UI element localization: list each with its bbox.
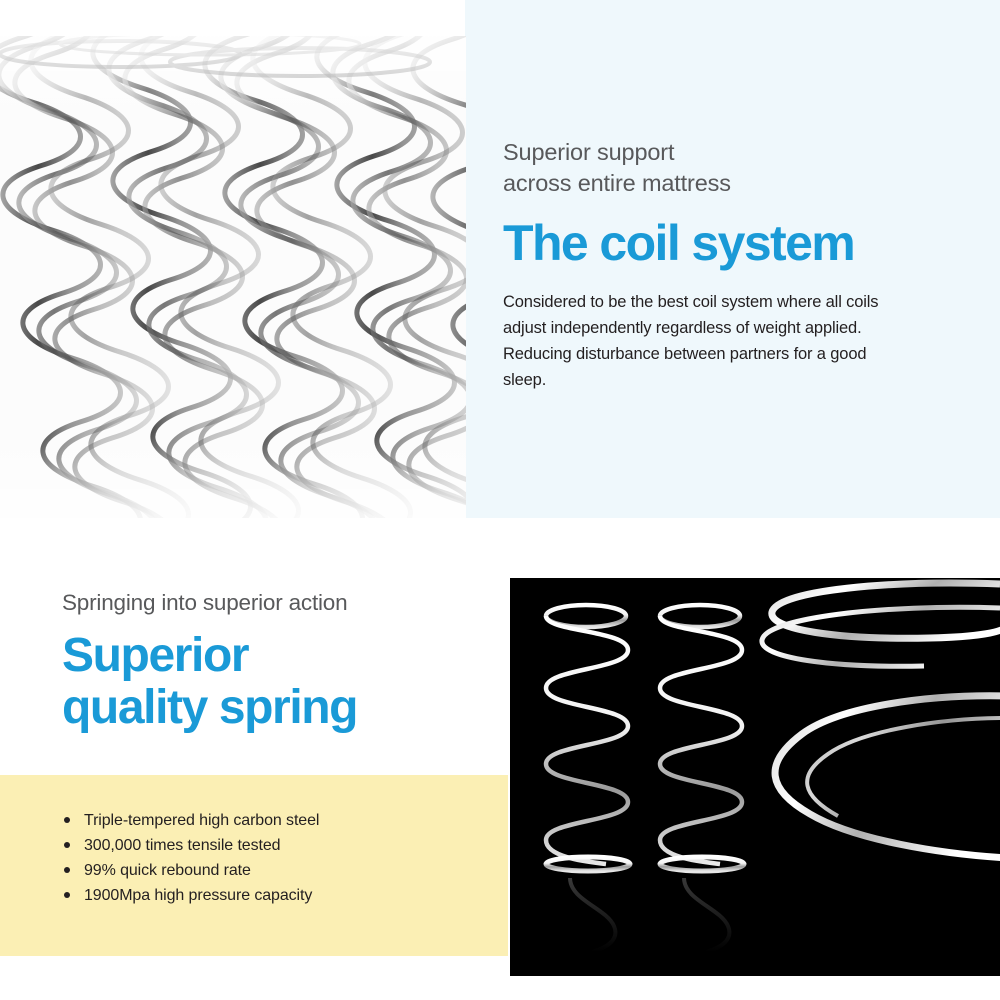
list-item: 1900Mpa high pressure capacity bbox=[62, 883, 508, 908]
list-item: 99% quick rebound rate bbox=[62, 858, 508, 883]
feature-text: 1900Mpa high pressure capacity bbox=[84, 887, 312, 904]
bottom-section: Springing into superior action Superior … bbox=[0, 518, 1000, 1000]
infographic-page: Superior support across entire mattress … bbox=[0, 0, 1000, 1000]
feature-text: Triple-tempered high carbon steel bbox=[84, 812, 319, 829]
list-item: Triple-tempered high carbon steel bbox=[62, 808, 508, 833]
list-item: 300,000 times tensile tested bbox=[62, 833, 508, 858]
feature-list: Triple-tempered high carbon steel 300,00… bbox=[0, 775, 508, 908]
bullet-icon bbox=[64, 842, 70, 848]
coil-springs-photo bbox=[0, 36, 466, 518]
coil-springs-illustration bbox=[0, 36, 466, 518]
bottom-headline: Superior quality spring bbox=[62, 630, 502, 734]
bottom-text-block: Springing into superior action Superior … bbox=[62, 588, 502, 734]
features-yellow-panel: Triple-tempered high carbon steel 300,00… bbox=[0, 775, 508, 956]
top-kicker-line-2: across entire mattress bbox=[503, 170, 731, 196]
top-kicker: Superior support across entire mattress bbox=[503, 137, 923, 199]
springs-photo bbox=[510, 578, 1000, 976]
springs-illustration bbox=[510, 578, 1000, 976]
bottom-headline-line-1: Superior bbox=[62, 629, 248, 682]
bottom-headline-line-2: quality spring bbox=[62, 681, 357, 734]
feature-text: 99% quick rebound rate bbox=[84, 862, 251, 879]
feature-text: 300,000 times tensile tested bbox=[84, 837, 280, 854]
top-section: Superior support across entire mattress … bbox=[0, 0, 1000, 518]
top-kicker-line-1: Superior support bbox=[503, 139, 674, 165]
top-body-copy: Considered to be the best coil system wh… bbox=[503, 289, 898, 393]
bullet-icon bbox=[64, 817, 70, 823]
bullet-icon bbox=[64, 867, 70, 873]
top-headline: The coil system bbox=[503, 215, 923, 271]
bullet-icon bbox=[64, 892, 70, 898]
top-text-block: Superior support across entire mattress … bbox=[503, 137, 923, 393]
bottom-kicker: Springing into superior action bbox=[62, 588, 502, 618]
